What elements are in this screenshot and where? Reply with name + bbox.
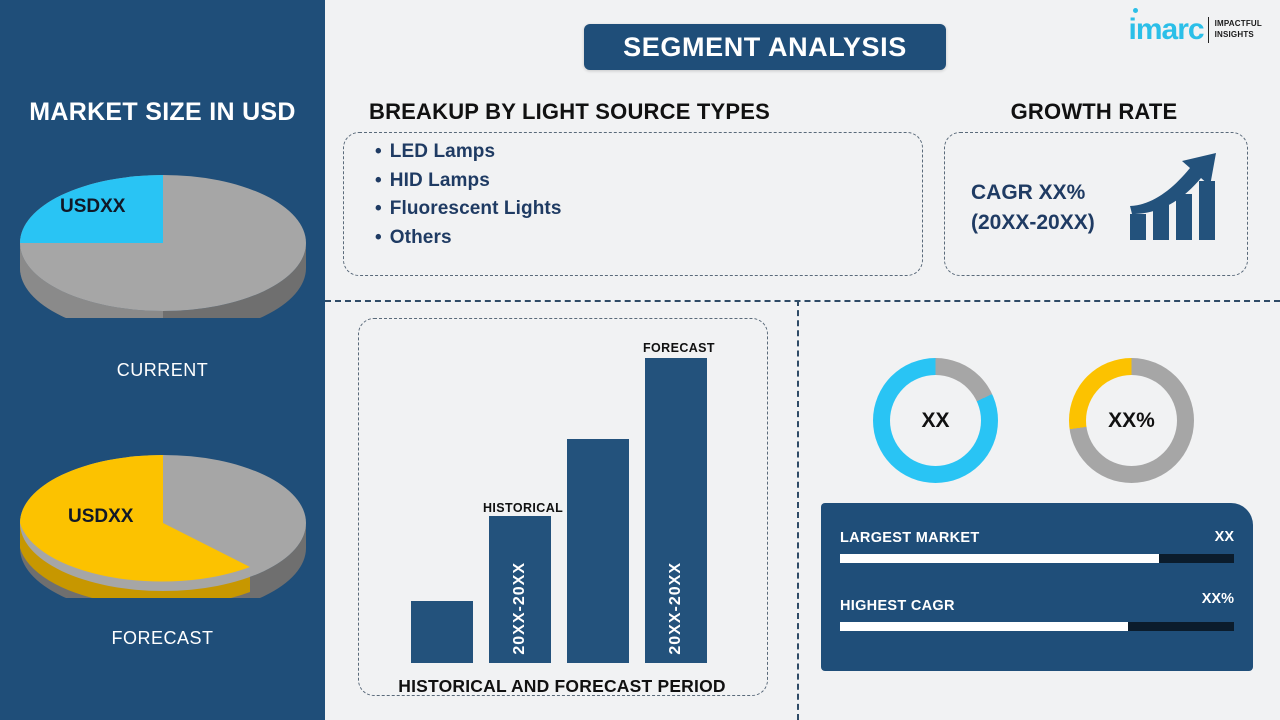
growth-arrow-bars-icon <box>1128 148 1228 253</box>
bar-3: 20XX-20XX <box>645 358 707 663</box>
horizontal-divider <box>325 300 1280 302</box>
stat-progress-track <box>840 554 1234 563</box>
stats-panel: LARGEST MARKET XX HIGHEST CAGR XX% <box>821 503 1253 671</box>
breakup-section-title: BREAKUP BY LIGHT SOURCE TYPES <box>369 99 770 125</box>
highest-cagr-donut-center: XX% <box>1086 375 1177 466</box>
historical-tag: HISTORICAL <box>483 501 563 515</box>
bar-0 <box>411 601 473 663</box>
list-item: Others <box>375 224 895 253</box>
logo-tagline: IMPACTFUL INSIGHTS <box>1215 19 1262 41</box>
stat-label: LARGEST MARKET <box>840 530 980 546</box>
stat-row-largest-market: LARGEST MARKET XX <box>840 529 1234 563</box>
growth-section-title: GROWTH RATE <box>944 99 1244 125</box>
forecast-market-pie-chart <box>18 448 308 598</box>
infographic-root: MARKET SIZE IN USD USDXX CURRENT USDXX F… <box>0 0 1280 720</box>
bar-1-label: 20XX-20XX <box>511 562 529 655</box>
largest-market-donut-value: XX <box>921 409 949 433</box>
bar-2 <box>567 439 629 663</box>
forecast-tag: FORECAST <box>643 341 715 355</box>
stat-progress-track <box>840 622 1234 631</box>
forecast-pie-caption: FORECAST <box>0 628 325 649</box>
cagr-value: CAGR XX% <box>971 178 1095 208</box>
breakup-list: LED Lamps HID Lamps Fluorescent Lights O… <box>375 138 895 252</box>
stat-progress-fill <box>840 622 1128 631</box>
logo-dot-icon <box>1133 8 1138 13</box>
page-title: SEGMENT ANALYSIS <box>623 32 907 63</box>
bar-3-label: 20XX-20XX <box>667 562 685 655</box>
page-title-banner: SEGMENT ANALYSIS <box>584 24 946 70</box>
stat-progress-fill <box>840 554 1159 563</box>
highest-cagr-donut: XX% <box>1069 358 1194 483</box>
stat-row-highest-cagr: HIGHEST CAGR XX% <box>840 597 1234 631</box>
logo-tagline-line1: IMPACTFUL <box>1215 19 1262 30</box>
list-item: HID Lamps <box>375 167 895 196</box>
current-market-pie-chart <box>18 168 308 318</box>
stat-value: XX% <box>1202 591 1234 607</box>
largest-market-donut: XX <box>873 358 998 483</box>
bar-chart-caption: HISTORICAL AND FORECAST PERIOD <box>358 676 766 697</box>
sidebar-title: MARKET SIZE IN USD <box>0 98 325 127</box>
list-item: Fluorescent Lights <box>375 195 895 224</box>
highest-cagr-donut-value: XX% <box>1108 409 1155 433</box>
bar-1: 20XX-20XX <box>489 516 551 663</box>
logo-wordmark: imarc <box>1129 15 1204 45</box>
stat-value: XX <box>1215 529 1234 545</box>
cagr-period: (20XX-20XX) <box>971 208 1095 238</box>
largest-market-donut-center: XX <box>890 375 981 466</box>
vertical-divider <box>797 300 799 720</box>
logo-tagline-line2: INSIGHTS <box>1215 30 1262 41</box>
cagr-text: CAGR XX% (20XX-20XX) <box>971 178 1095 238</box>
stat-label: HIGHEST CAGR <box>840 598 955 614</box>
list-item: LED Lamps <box>375 138 895 167</box>
current-pie-caption: CURRENT <box>0 360 325 381</box>
logo-divider <box>1208 17 1209 43</box>
imarc-logo: imarc IMPACTFUL INSIGHTS <box>1129 12 1262 48</box>
